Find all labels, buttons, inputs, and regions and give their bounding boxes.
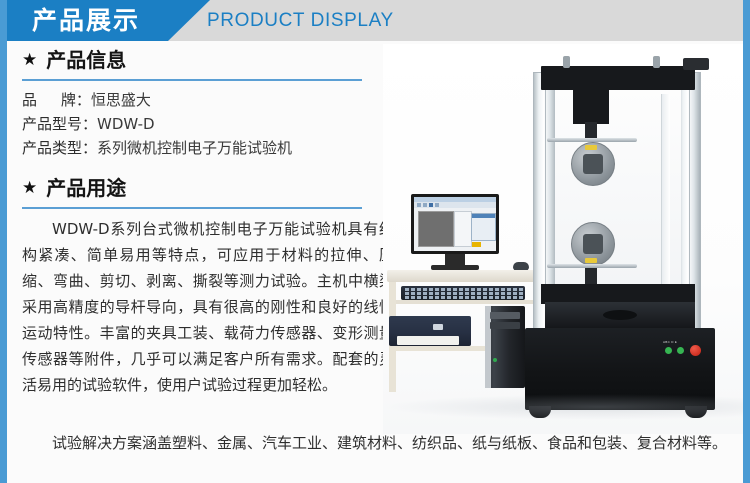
section-heading-label: 产品用途	[46, 174, 126, 202]
machine-motor-housing	[683, 58, 709, 70]
usage-paragraph-block: WDW-D系列台式微机控制电子万能试验机具有结构紧凑、简单易用等特点，可应用于材…	[22, 216, 394, 398]
spec-value: 系列微机控制电子万能试验机	[97, 139, 292, 157]
control-panel-label: ABC D E	[663, 340, 709, 344]
power-led-icon	[493, 358, 497, 362]
printer	[389, 316, 471, 346]
product-display-page: 产品展示 PRODUCT DISPLAY ★ 产品信息 品 牌：恒思盛大 产品型…	[0, 0, 750, 483]
tail-paragraph-block: 试验解决方案涵盖塑料、金属、汽车工业、建筑材料、纺织品、纸与纸板、食品和包装、复…	[22, 430, 740, 456]
stop-button[interactable]	[677, 347, 684, 354]
star-icon: ★	[22, 174, 37, 202]
section-heading-label: 产品信息	[46, 46, 126, 74]
section-divider	[22, 207, 362, 209]
printer-paper-tray	[397, 336, 459, 345]
machine-crosshead	[573, 90, 609, 124]
machine-table-disc	[603, 310, 637, 320]
banner-title-cn: 产品展示	[32, 4, 140, 37]
machine-top-hooks	[557, 56, 679, 68]
spec-label: 产品型号：	[22, 115, 97, 133]
software-warning-icon	[472, 242, 481, 247]
monitor	[411, 194, 499, 254]
page-header-banner: 产品展示 PRODUCT DISPLAY	[0, 0, 750, 41]
section-divider	[22, 79, 362, 81]
usage-paragraph-1: WDW-D系列台式微机控制电子万能试验机具有结构紧凑、简单易用等特点，可应用于材…	[22, 216, 394, 398]
machine-control-panel[interactable]: ABC D E	[663, 340, 709, 358]
content-column: ★ 产品信息 品 牌：恒思盛大 产品型号：WDW-D 产品类型：系列微机控制电子…	[22, 46, 442, 398]
spec-row-brand: 品 牌：恒思盛大	[22, 88, 442, 112]
monitor-screen-content	[414, 197, 496, 251]
spec-row-type: 产品类型：系列微机控制电子万能试验机	[22, 136, 442, 160]
section-heading-product-usage: ★ 产品用途	[22, 174, 442, 202]
testing-machine: ABC D E	[511, 44, 733, 428]
keyboard	[401, 286, 525, 300]
star-icon: ★	[22, 46, 37, 74]
machine-base-beam	[541, 284, 695, 304]
machine-measuring-scale	[661, 94, 670, 302]
spec-label: 品 牌：	[22, 91, 91, 109]
floor-shadow	[383, 394, 743, 420]
product-photo: ABC D E	[383, 44, 743, 434]
machine-lower-warning-tag-icon	[585, 258, 597, 263]
usage-paragraph-2: 试验解决方案涵盖塑料、金属、汽车工业、建筑材料、纺织品、纸与纸板、食品和包装、复…	[22, 430, 740, 456]
banner-title-en: PRODUCT DISPLAY	[207, 8, 394, 33]
machine-lower-stem	[585, 268, 597, 284]
software-graph-area	[418, 211, 454, 247]
software-dialog	[471, 213, 496, 241]
software-toolbar	[414, 202, 496, 208]
spec-row-model: 产品型号：WDW-D	[22, 112, 442, 136]
software-data-panel	[454, 211, 472, 247]
section-heading-product-info: ★ 产品信息	[22, 46, 442, 74]
start-button[interactable]	[665, 347, 672, 354]
emergency-stop-button[interactable]	[690, 345, 701, 356]
machine-upper-warning-tag-icon	[585, 145, 597, 150]
spec-label: 产品类型：	[22, 139, 97, 157]
spec-value: 恒思盛大	[91, 91, 151, 109]
spec-value: WDW-D	[97, 115, 155, 133]
machine-top-beam	[541, 66, 695, 90]
